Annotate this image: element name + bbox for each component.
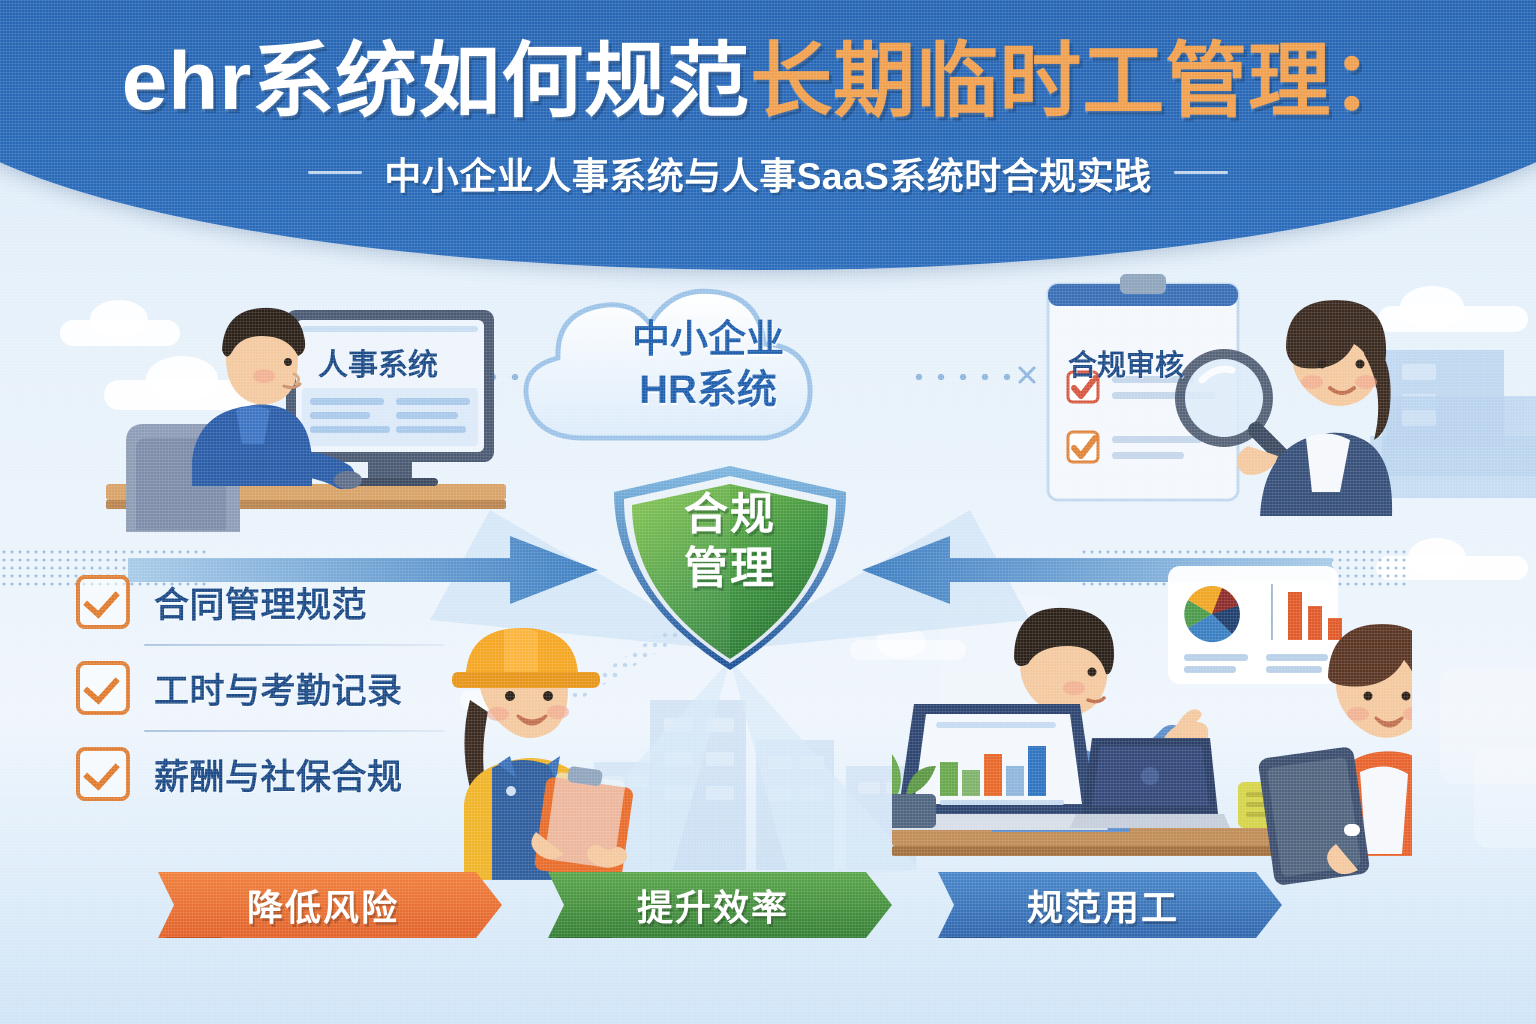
benefit-ribbon-boost-efficiency[interactable]: 提升效率 bbox=[548, 872, 892, 938]
checklist-item-label: 工时与考勤记录 bbox=[154, 663, 403, 714]
monitor-screen-label: 人事系统 bbox=[318, 340, 438, 384]
check-square-icon bbox=[76, 747, 130, 801]
subtitle-rule-right bbox=[1174, 171, 1228, 174]
ribbon-label: 降低风险 bbox=[247, 879, 399, 931]
check-square-icon bbox=[76, 661, 130, 715]
ribbon-tail bbox=[166, 937, 222, 951]
scene-auditor-clipboard bbox=[1034, 270, 1434, 538]
page-title-main: ehr系统如何规范 bbox=[122, 40, 751, 124]
checklist-item-1[interactable]: 合同管理规范 bbox=[76, 560, 456, 644]
clipboard-title-label: 合规审核 bbox=[1068, 342, 1184, 384]
ribbon-tail bbox=[946, 937, 1002, 951]
subtitle-rule-left bbox=[308, 171, 362, 174]
compliance-shield: 合规 管理 bbox=[606, 462, 854, 674]
checklist-item-label: 合同管理规范 bbox=[154, 577, 367, 628]
ribbon-label: 提升效率 bbox=[637, 879, 789, 931]
check-square-icon bbox=[76, 575, 130, 629]
checklist-item-label: 薪酬与社保合规 bbox=[154, 749, 403, 800]
page-subtitle: 中小企业人事系统与人事SaaS系统时合规实践 bbox=[308, 146, 1228, 200]
checklist-item-3[interactable]: 薪酬与社保合规 bbox=[76, 732, 456, 816]
scene-office-worker-desktop bbox=[96, 262, 516, 542]
ribbon-tail bbox=[556, 937, 612, 951]
page-subtitle-text: 中小企业人事系统与人事SaaS系统时合规实践 bbox=[384, 146, 1152, 200]
compliance-checklist: 合同管理规范 工时与考勤记录 薪酬与社保合规 bbox=[76, 560, 456, 816]
benefit-ribbon-standardize-labor[interactable]: 规范用工 bbox=[938, 872, 1282, 938]
page-title-accent: 长期临时工管理： bbox=[750, 40, 1414, 124]
benefit-ribbon-reduce-risk[interactable]: 降低风险 bbox=[158, 872, 502, 938]
scene-team-analytics bbox=[892, 556, 1412, 886]
benefit-ribbon-row: 降低风险 提升效率 规范用工 bbox=[0, 872, 1536, 952]
page-title: ehr系统如何规范 长期临时工管理： bbox=[122, 40, 1415, 124]
ribbon-label: 规范用工 bbox=[1027, 879, 1179, 931]
cloud-badge-hr-system: 中小企业 HR系统 bbox=[512, 262, 904, 470]
connector-dots-right bbox=[908, 374, 1018, 380]
background-cloud bbox=[1408, 538, 1466, 576]
poster-header: ehr系统如何规范 长期临时工管理： 中小企业人事系统与人事SaaS系统时合规实… bbox=[0, 0, 1536, 300]
checklist-item-2[interactable]: 工时与考勤记录 bbox=[76, 646, 456, 730]
infographic-poster: 人事系统 bbox=[0, 0, 1536, 1024]
decor-panel bbox=[1474, 748, 1536, 848]
